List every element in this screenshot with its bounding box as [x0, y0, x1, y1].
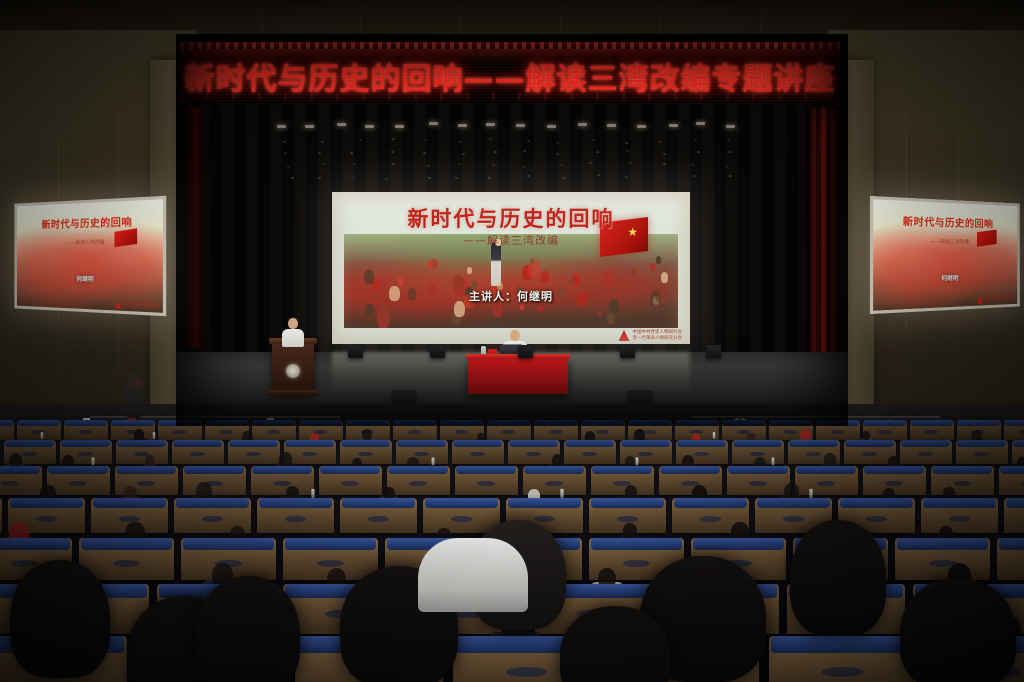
rig-lamp-speck: [391, 151, 394, 153]
auditorium-seat[interactable]: [921, 498, 998, 533]
seat-back-emblem: [582, 452, 597, 456]
audience-member-head: [134, 429, 144, 440]
auditorium-seat[interactable]: [423, 498, 500, 533]
stage-monitor: [620, 345, 635, 358]
rig-lamp: [547, 125, 556, 128]
seat-back-emblem: [700, 516, 722, 522]
seat-cushion: [534, 420, 576, 426]
seat-cushion: [524, 466, 584, 474]
rig-lamp: [578, 123, 587, 126]
auditorium-seat[interactable]: [396, 440, 448, 464]
org-triangle-icon: [977, 297, 983, 304]
seat-back-emblem: [202, 516, 224, 522]
seat-cushion: [453, 440, 503, 447]
rig-lamp-speck: [428, 177, 431, 179]
auditorium-seat[interactable]: [722, 420, 766, 440]
seat-cushion: [910, 420, 952, 426]
seat-cushion: [0, 420, 13, 426]
stage-curtain-red-left: [186, 108, 202, 348]
seat-cushion: [840, 498, 914, 508]
water-bottle: [311, 489, 314, 498]
seat-cushion: [299, 420, 341, 426]
water-bottle: [153, 432, 155, 439]
seat-cushion: [48, 466, 108, 474]
seat-cushion: [285, 440, 335, 447]
seat-back-emblem: [545, 481, 563, 486]
seat-back-emblem: [885, 481, 903, 486]
rig-lamp-speck: [351, 177, 354, 179]
side-screen-right-content: 新时代与历史的回响 ——解读三湾改编 何继明 中国中共党史人物研究会 老一代革命…: [873, 199, 1017, 310]
rig-lamp: [696, 122, 705, 125]
auditorium-seat[interactable]: [931, 466, 994, 495]
rig-lamp-speck: [663, 153, 666, 155]
auditorium-seat[interactable]: [251, 466, 314, 495]
auditorium-seat[interactable]: [452, 440, 504, 464]
seat-cushion: [675, 420, 717, 426]
water-bottle: [847, 418, 849, 419]
side-right-org-text: 中国中共党史人物研究会 老一代革命人物研究分会: [985, 295, 1014, 303]
seat-back-emblem: [749, 481, 767, 486]
seat-cushion: [0, 538, 70, 550]
led-pixel-row: [180, 92, 840, 100]
seat-back-emblem: [113, 560, 140, 567]
seat-back-emblem: [638, 452, 653, 456]
seat-back-emblem: [358, 452, 373, 456]
host-head: [288, 318, 298, 329]
seat-back-emblem: [267, 430, 279, 433]
auditorium-seat[interactable]: [591, 466, 654, 495]
auditorium-seat[interactable]: [727, 466, 790, 495]
seat-cushion: [722, 420, 764, 426]
rig-lamp-speck: [359, 139, 362, 141]
seat-cushion: [440, 420, 482, 426]
seat-back-emblem: [119, 516, 141, 522]
seat-cushion: [93, 498, 167, 508]
led-strip-glow: [180, 42, 840, 49]
auditorium-seat[interactable]: [0, 466, 42, 495]
host-standing-at-podium: [281, 318, 305, 346]
rig-lamp-speck: [287, 166, 290, 168]
seat-cushion: [205, 420, 247, 426]
seat-cushion: [957, 440, 1007, 447]
rig-lamp-speck: [458, 163, 461, 165]
seat-cushion: [1006, 498, 1024, 508]
auditorium-seat[interactable]: [228, 440, 280, 464]
seat-back-emblem: [783, 516, 805, 522]
rig-lamp: [607, 124, 616, 127]
auditorium-seat[interactable]: [997, 538, 1024, 580]
seat-cushion: [757, 498, 831, 508]
seat-cushion: [591, 498, 665, 508]
seat-cushion: [346, 420, 388, 426]
rig-lamp-speck: [527, 175, 530, 177]
seat-cushion: [259, 498, 333, 508]
rig-lamp-speck: [523, 150, 526, 152]
auditorium-seat[interactable]: [895, 538, 990, 580]
seat-cushion: [864, 466, 924, 474]
seat-cushion: [388, 466, 448, 474]
auditorium-seat[interactable]: [0, 420, 14, 440]
seat-cushion: [863, 420, 905, 426]
auditorium-seat[interactable]: [257, 498, 334, 533]
seat-back-emblem: [784, 430, 796, 433]
seat-cushion: [592, 466, 652, 474]
auditorium-seat[interactable]: [387, 466, 450, 495]
audience-member-head: [862, 431, 870, 440]
foreground-audience-head: [790, 520, 886, 636]
seat-back-emblem: [974, 452, 989, 456]
rig-lamp-speck: [726, 166, 729, 168]
seat-cushion: [728, 466, 788, 474]
seat-back-emblem: [451, 516, 473, 522]
seat-cushion: [252, 420, 294, 426]
seat-back-emblem: [273, 481, 291, 486]
auditorium-seat[interactable]: [116, 440, 168, 464]
rig-lamp-speck: [694, 139, 697, 141]
seat-cushion: [5, 440, 55, 447]
seat-back-emblem: [750, 452, 765, 456]
auditorium-seat[interactable]: [17, 420, 61, 440]
seat-cushion: [628, 420, 670, 426]
seat-back-emblem: [79, 430, 91, 433]
water-bottle: [706, 418, 708, 419]
seat-cushion: [769, 420, 811, 426]
rig-lamp: [365, 125, 374, 128]
seat-cushion: [901, 440, 951, 447]
rig-lamp-speck: [660, 175, 663, 177]
rig-lamp-speck: [693, 175, 696, 177]
foreground-audience-head: [900, 578, 1016, 682]
foreground-audience-head: [10, 560, 110, 678]
seat-back-emblem: [831, 430, 843, 433]
rig-lamp-speck: [658, 141, 661, 143]
auditorium-seat[interactable]: [910, 420, 954, 440]
seat-back-emblem: [137, 481, 155, 486]
seat-cushion: [677, 440, 727, 447]
seat-cushion: [252, 466, 312, 474]
rig-lamp: [395, 125, 404, 128]
seat-cushion: [621, 440, 671, 447]
seat-back-emblem: [455, 430, 467, 433]
seat-cushion: [425, 498, 499, 508]
seat-cushion: [111, 420, 153, 426]
seat-cushion: [320, 466, 380, 474]
auditorium-seat[interactable]: [659, 466, 722, 495]
auditorium-seat[interactable]: [0, 498, 2, 533]
auditorium-seat[interactable]: [956, 440, 1008, 464]
seat-cushion: [176, 498, 250, 508]
seat-cushion: [1000, 466, 1024, 474]
seat-cushion: [509, 440, 559, 447]
seat-cushion: [845, 440, 895, 447]
rig-lamp: [486, 123, 495, 126]
seat-back-emblem: [617, 516, 639, 522]
rig-lamp: [277, 125, 286, 128]
seat-back-emblem: [69, 481, 87, 486]
seat-cushion: [456, 466, 516, 474]
rig-lamp-speck: [729, 175, 732, 177]
seat-cushion: [81, 538, 172, 550]
side-led-screen-right: 新时代与历史的回响 ——解读三湾改编 何继明 中国中共党史人物研究会 老一代革命…: [870, 196, 1020, 314]
seat-back-emblem: [949, 516, 971, 522]
foreground-audience-head: [196, 576, 300, 682]
rig-lamp-speck: [392, 163, 395, 165]
auditorium-seat[interactable]: [900, 440, 952, 464]
seat-back-emblem: [878, 430, 890, 433]
auditorium-seat[interactable]: [252, 420, 296, 440]
side-right-title: 新时代与历史的回响: [873, 212, 1017, 231]
auditorium-seat[interactable]: [64, 420, 108, 440]
seat-cushion: [796, 466, 856, 474]
seat-cushion: [508, 498, 582, 508]
rig-lamp-speck: [691, 164, 694, 166]
auditorium-seat[interactable]: [299, 420, 343, 440]
water-bottle: [283, 418, 285, 419]
rig-lamp-speck: [625, 142, 628, 144]
auditorium-seat[interactable]: [1004, 420, 1024, 440]
rig-lamp: [669, 124, 678, 127]
rig-lamp: [637, 125, 646, 128]
seat-back-emblem: [368, 516, 390, 522]
seat-cushion: [581, 420, 623, 426]
lecturer-head: [510, 330, 520, 341]
seat-back-emblem: [1, 481, 19, 486]
head-table: [468, 358, 568, 394]
rig-lamp: [429, 122, 438, 125]
rig-lamp: [726, 125, 735, 128]
rig-lamp-speck: [283, 141, 286, 143]
stage-led-banner: 新时代与历史的回响——解读三湾改编专题讲座: [180, 42, 840, 104]
stage-monitor: [348, 345, 363, 358]
seat-cushion: [184, 466, 244, 474]
seat-cushion: [117, 440, 167, 447]
seat-back-emblem: [317, 560, 344, 567]
seat-back-emblem: [623, 560, 650, 567]
water-bottle: [41, 432, 43, 439]
seat-back-emblem: [341, 481, 359, 486]
seat-cushion: [923, 498, 997, 508]
podium-base: [268, 390, 318, 396]
rig-lamp-speck: [727, 139, 730, 141]
seat-back-emblem: [817, 481, 835, 486]
audience-member-head: [145, 455, 155, 466]
auditorium-seat[interactable]: [393, 420, 437, 440]
rig-lamp-speck: [488, 177, 491, 179]
auditorium-seat[interactable]: [564, 440, 616, 464]
rig-lamp-speck: [527, 140, 530, 142]
seat-back-emblem: [506, 667, 547, 677]
seat-back-emblem: [549, 430, 561, 433]
rig-lamp-speck: [562, 177, 565, 179]
seat-cushion: [10, 498, 84, 508]
audience-member-head: [824, 453, 836, 466]
side-left-title: 新时代与历史的回响: [17, 212, 163, 232]
seat-cushion: [565, 440, 615, 447]
seat-back-emblem: [22, 452, 37, 456]
seat-cushion: [173, 440, 223, 447]
rig-lamp-speck: [284, 152, 287, 154]
seat-cushion: [342, 498, 416, 508]
rig-lamp-speck: [492, 164, 495, 166]
seat-back-emblem: [414, 452, 429, 456]
rig-lamp-speck: [596, 151, 599, 153]
seat-back-emblem: [409, 481, 427, 486]
main-projection-screen: ★ 新时代与历史的回响 ——解读三湾改编 主讲人：何继明 中国中共党史人物研究会…: [332, 192, 690, 344]
seat-cushion: [285, 538, 376, 550]
foreground-audience-white-shirt: [418, 538, 528, 612]
camera-icon: [134, 379, 142, 386]
seat-back-emblem: [866, 516, 888, 522]
rig-lamp-speck: [697, 151, 700, 153]
seat-back-emblem: [78, 452, 93, 456]
seat-cushion: [183, 538, 274, 550]
seat-cushion: [932, 466, 992, 474]
rig-lamp-speck: [291, 177, 294, 179]
seat-cushion: [957, 420, 999, 426]
seat-cushion: [591, 538, 682, 550]
auditorium-seat[interactable]: [816, 420, 860, 440]
auditorium-seat[interactable]: [340, 440, 392, 464]
auditorium-seat[interactable]: [158, 420, 202, 440]
seat-cushion: [116, 466, 176, 474]
seat-back-emblem: [220, 430, 232, 433]
water-bottle: [91, 458, 94, 466]
audience-seating: [0, 418, 1024, 682]
seat-back-emblem: [1019, 430, 1024, 433]
rig-lamp: [337, 123, 346, 126]
seat-back-emblem: [534, 516, 556, 522]
rig-lamp-speck: [589, 162, 592, 164]
rig-lamp-speck: [350, 152, 353, 154]
seat-back-emblem: [36, 516, 58, 522]
seat-back-emblem: [285, 516, 307, 522]
water-bottle: [431, 458, 434, 466]
auditorium-seat[interactable]: [795, 466, 858, 495]
seat-back-emblem: [526, 452, 541, 456]
side-left-speaker-name: 何继明: [17, 273, 163, 285]
side-left-subtitle: ——解读三湾改编: [17, 238, 163, 247]
seat-back-emblem: [190, 452, 205, 456]
rig-lamp-speck: [560, 164, 563, 166]
rig-lamp-speck: [321, 141, 324, 143]
rig-lamp-speck: [494, 151, 497, 153]
rig-lamp-speck: [459, 141, 462, 143]
audience-member-head: [623, 523, 637, 539]
water-bottle: [753, 418, 755, 419]
side-right-subtitle: ——解读三湾改编: [873, 237, 1017, 246]
rig-lamp-speck: [353, 163, 356, 165]
auditorium-seat[interactable]: [47, 466, 110, 495]
seat-back-emblem: [502, 430, 514, 433]
rig-lamp-speck: [392, 138, 395, 140]
rig-lamp-speck: [556, 142, 559, 144]
seat-cushion: [17, 420, 59, 426]
side-screen-left-content: 新时代与历史的回响 ——解读三湾改编 何继明 中国中共党史人物研究会 老一代革命…: [17, 199, 163, 313]
rig-lamp-speck: [625, 176, 628, 178]
rig-lamp: [458, 124, 467, 127]
audience-member-head: [784, 483, 799, 500]
rig-lamp-speck: [626, 150, 629, 152]
rig-lamp-speck: [423, 152, 426, 154]
stage-monitor: [706, 345, 721, 358]
auditorium-seat[interactable]: [769, 636, 917, 682]
seat-back-emblem: [806, 452, 821, 456]
seat-back-emblem: [173, 430, 185, 433]
auditorium-seat[interactable]: [455, 466, 518, 495]
auditorium-seat[interactable]: [1004, 498, 1024, 533]
rig-lamp-speck: [318, 152, 321, 154]
water-bottle: [713, 432, 715, 439]
auditorium-seat[interactable]: [340, 498, 417, 533]
water-bottle: [771, 458, 774, 466]
rig-lamp-speck: [663, 163, 666, 165]
seat-back-emblem: [477, 481, 495, 486]
slide-edge-shading: [332, 192, 690, 344]
rig-lamp-speck: [728, 151, 731, 153]
rig-lamp-speck: [597, 174, 600, 176]
seat-cushion: [61, 440, 111, 447]
lectern-podium: [272, 342, 314, 394]
seat-back-emblem: [822, 667, 863, 677]
seat-cushion: [789, 440, 839, 447]
seat-cushion: [397, 440, 447, 447]
seat-back-emblem: [694, 452, 709, 456]
side-left-org-text: 中国中共党史人物研究会 老一代革命人物研究分会: [124, 301, 159, 310]
seat-back-emblem: [643, 430, 655, 433]
auditorium-seat[interactable]: [534, 420, 578, 440]
rig-lamp-speck: [489, 138, 492, 140]
rig-lamp: [516, 124, 525, 127]
seat-cushion: [64, 420, 106, 426]
seat-back-emblem: [596, 430, 608, 433]
rig-lamp-speck: [462, 153, 465, 155]
auditorium-seat[interactable]: [172, 440, 224, 464]
rig-lamp-speck: [385, 178, 388, 180]
stage-monitor: [430, 345, 445, 358]
seat-cushion: [733, 440, 783, 447]
seat-cushion: [0, 466, 40, 474]
auditorium-seat[interactable]: [999, 466, 1024, 495]
seat-cushion: [816, 420, 858, 426]
water-bottle: [560, 489, 563, 498]
org-triangle-icon: [114, 301, 121, 309]
rig-lamp-speck: [455, 177, 458, 179]
seat-back-emblem: [246, 452, 261, 456]
seat-back-emblem: [925, 430, 937, 433]
seat-cushion: [693, 538, 784, 550]
auditorium-seat[interactable]: [487, 420, 531, 440]
seat-cushion: [999, 538, 1024, 550]
rig-lamp-speck: [322, 163, 325, 165]
seat-back-emblem: [918, 452, 933, 456]
seat-cushion: [660, 466, 720, 474]
seat-back-emblem: [862, 452, 877, 456]
seat-cushion: [487, 420, 529, 426]
seat-cushion: [897, 538, 988, 550]
seat-cushion: [393, 420, 435, 426]
podium-emblem-icon: [286, 364, 300, 378]
water-bottle: [809, 489, 812, 498]
stage-monitor: [518, 345, 533, 358]
seat-back-emblem: [408, 430, 420, 433]
side-led-screen-left: 新时代与历史的回响 ——解读三湾改编 何继明 中国中共党史人物研究会 老一代革命…: [14, 196, 166, 316]
rig-lamp-speck: [556, 153, 559, 155]
seat-cushion: [341, 440, 391, 447]
auditorium-seat[interactable]: [183, 466, 246, 495]
auditorium-seat[interactable]: [319, 466, 382, 495]
side-right-speaker-name: 何继明: [873, 272, 1017, 284]
seat-back-emblem: [302, 452, 317, 456]
